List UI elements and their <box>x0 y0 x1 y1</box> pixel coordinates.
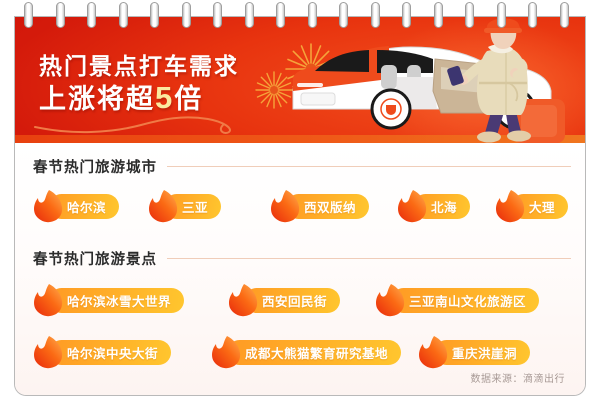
item-label: 西安回民街 <box>262 291 327 310</box>
poster-header: 热门景点打车需求 上涨将超5倍 <box>15 17 585 143</box>
section-title: 春节热门旅游城市 <box>33 156 157 177</box>
flame-icon <box>418 335 448 369</box>
flame-icon <box>211 335 241 369</box>
poster-title-prefix: 上涨将超 <box>39 84 155 114</box>
item-label: 三亚 <box>182 197 208 216</box>
flame-icon <box>228 283 258 317</box>
list-item[interactable]: 西双版纳 <box>270 193 369 219</box>
list-item[interactable]: 西安回民街 <box>228 287 340 313</box>
item-label: 西双版纳 <box>304 197 356 216</box>
item-label: 成都大熊猫繁育研究基地 <box>245 343 388 362</box>
header-illustration <box>285 17 585 143</box>
list-item[interactable]: 大理 <box>495 193 568 219</box>
section-cities: 春节热门旅游城市 哈尔滨 <box>15 155 585 225</box>
item-label: 重庆洪崖洞 <box>452 343 517 362</box>
item-label: 哈尔滨中央大街 <box>67 343 158 362</box>
item-label: 哈尔滨冰雪大世界 <box>67 291 171 310</box>
list-item[interactable]: 三亚南山文化旅游区 <box>375 287 539 313</box>
poster-title-line-2: 上涨将超5倍 <box>39 81 239 116</box>
poster-card: 热门景点打车需求 上涨将超5倍 <box>14 16 586 396</box>
flame-icon <box>397 189 427 223</box>
flame-icon <box>33 335 63 369</box>
pill-body: 成都大熊猫繁育研究基地 <box>227 340 401 365</box>
flame-icon <box>33 189 63 223</box>
item-label: 三亚南山文化旅游区 <box>409 291 526 310</box>
flame-icon <box>375 283 405 317</box>
flame-icon <box>148 189 178 223</box>
flame-icon <box>33 283 63 317</box>
list-item[interactable]: 哈尔滨中央大街 <box>33 339 171 365</box>
section-attractions: 春节热门旅游景点 哈尔滨冰雪大世界 <box>15 247 585 371</box>
pill-body: 三亚南山文化旅游区 <box>391 288 539 313</box>
pill-body: 重庆洪崖洞 <box>434 340 530 365</box>
flame-icon <box>270 189 300 223</box>
list-item[interactable]: 成都大熊猫繁育研究基地 <box>211 339 401 365</box>
list-item[interactable]: 三亚 <box>148 193 221 219</box>
data-source-label: 数据来源：滴滴出行 <box>471 370 566 385</box>
item-label: 大理 <box>529 197 555 216</box>
swoosh-decoration <box>33 113 273 135</box>
list-item[interactable]: 重庆洪崖洞 <box>418 339 530 365</box>
poster-body: 春节热门旅游城市 哈尔滨 <box>15 143 585 395</box>
list-item[interactable]: 哈尔滨冰雪大世界 <box>33 287 184 313</box>
pill-body: 西安回民街 <box>244 288 340 313</box>
pill-body: 哈尔滨冰雪大世界 <box>49 288 184 313</box>
poster-title-line-1: 热门景点打车需求 <box>39 51 239 81</box>
item-label: 北海 <box>431 197 457 216</box>
section-title: 春节热门旅游景点 <box>33 248 157 269</box>
pill-body: 哈尔滨中央大街 <box>49 340 171 365</box>
poster-title-suffix: 倍 <box>174 84 203 114</box>
poster-title-number: 5 <box>155 80 174 115</box>
infographic-poster: 热门景点打车需求 上涨将超5倍 <box>0 0 600 409</box>
flame-icon <box>495 189 525 223</box>
attractions-row-1: 哈尔滨冰雪大世界 西安回民街 <box>15 281 585 319</box>
attractions-row-2: 哈尔滨中央大街 成都大熊猫繁育研究基地 <box>15 333 585 371</box>
header-title-block: 热门景点打车需求 上涨将超5倍 <box>39 51 239 116</box>
section-divider <box>167 166 571 167</box>
section-header-attractions: 春节热门旅游景点 <box>15 247 585 269</box>
item-label: 哈尔滨 <box>67 197 106 216</box>
list-item[interactable]: 北海 <box>397 193 470 219</box>
cities-row: 哈尔滨 三亚 <box>15 187 585 225</box>
section-divider <box>167 258 571 259</box>
section-header-cities: 春节热门旅游城市 <box>15 155 585 177</box>
list-item[interactable]: 哈尔滨 <box>33 193 119 219</box>
